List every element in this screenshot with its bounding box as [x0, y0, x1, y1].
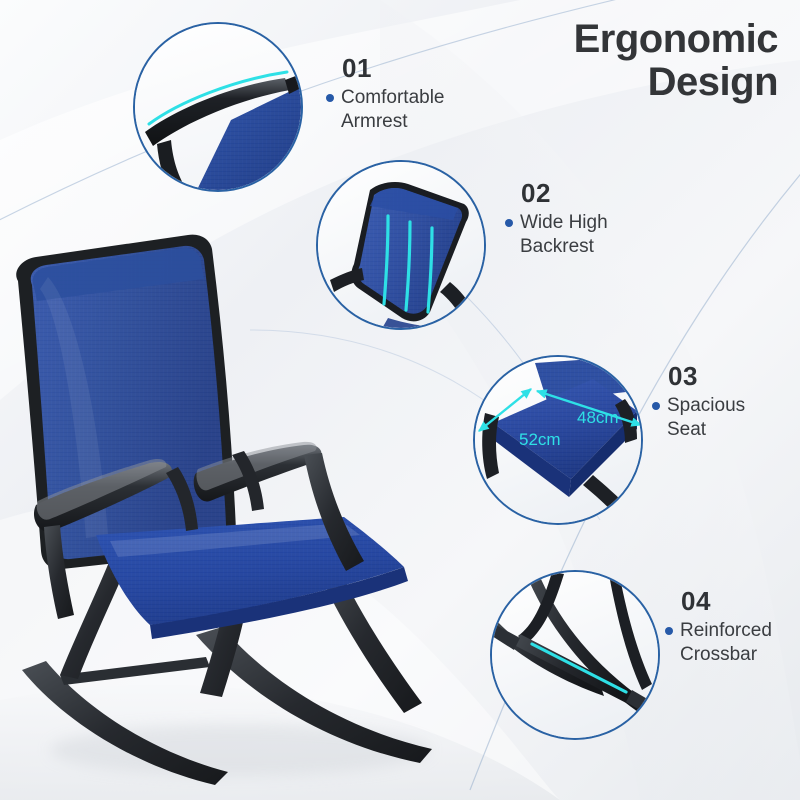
feature-block-04: 04 Reinforced Crossbar	[665, 588, 800, 667]
feature-block-01: 01 Comfortable Armrest	[326, 55, 496, 134]
bullet-dot-icon	[505, 219, 513, 227]
infographic-canvas: Ergonomic Design	[0, 0, 800, 800]
detail-bubble-seat: 48cm 52cm	[473, 355, 643, 525]
title-line-2: Design	[448, 61, 778, 104]
detail-bubble-backrest	[316, 160, 486, 330]
detail-bubble-crossbar	[490, 570, 660, 740]
feature-label: Comfortable Armrest	[341, 86, 445, 134]
feature-block-02: 02 Wide High Backrest	[505, 180, 665, 259]
bullet-dot-icon	[326, 94, 334, 102]
title-line-1: Ergonomic	[448, 18, 778, 61]
feature-label: Wide High Backrest	[520, 211, 608, 259]
feature-label: Reinforced Crossbar	[680, 619, 772, 667]
feature-block-03: 03 Spacious Seat	[652, 363, 800, 442]
seat-depth-label: 48cm	[577, 408, 619, 427]
feature-number: 02	[521, 180, 665, 206]
bullet-dot-icon	[652, 402, 660, 410]
page-title: Ergonomic Design	[448, 18, 778, 104]
bullet-dot-icon	[665, 627, 673, 635]
feature-number: 01	[342, 55, 496, 81]
feature-label: Spacious Seat	[667, 394, 745, 442]
feature-number: 04	[681, 588, 800, 614]
feature-number: 03	[668, 363, 800, 389]
detail-bubble-armrest	[133, 22, 303, 192]
seat-width-label: 52cm	[519, 430, 561, 449]
